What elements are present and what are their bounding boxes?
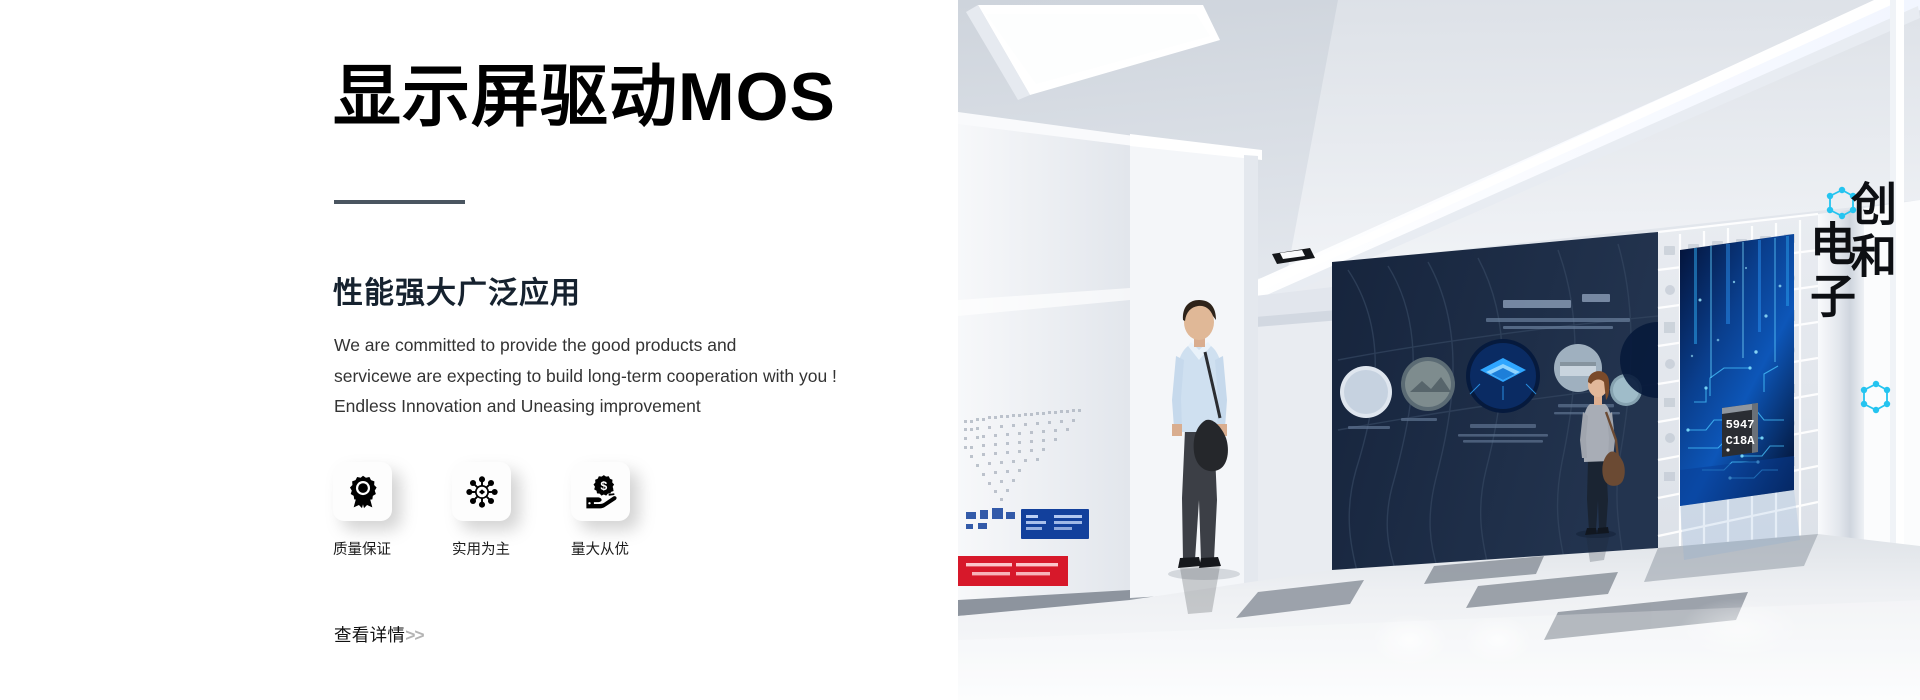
network-hub-icon (464, 474, 500, 510)
wall-plaque-blue (1021, 509, 1089, 539)
product-banner: 显示屏驱动MOS 性能强大广泛应用 We are committed to pr… (0, 0, 1920, 700)
chevron-right-icon: >> (405, 625, 423, 645)
view-details-label: 查看详情 (334, 625, 405, 645)
page-title: 显示屏驱动MOS (333, 62, 836, 133)
feature-label: 实用为主 (452, 538, 510, 559)
description-line-2: servicewe are expecting to build long-te… (334, 361, 837, 392)
banner-subtitle: 性能强大广泛应用 (333, 268, 581, 312)
chip-graphic: 5947 C18A (1722, 403, 1758, 457)
chip-label-line2: C18A (1726, 434, 1756, 448)
feature-tile (452, 462, 511, 521)
feature-list: 质量保证 (333, 462, 690, 521)
feature-item-practical[interactable]: 实用为主 (452, 462, 571, 521)
showroom-photo: 5947 C18A (958, 0, 1920, 700)
feature-item-quality[interactable]: 质量保证 (333, 462, 452, 521)
showroom-illustration: 5947 C18A (958, 0, 1920, 700)
title-divider (334, 200, 465, 204)
banner-description: We are committed to provide the good pro… (334, 330, 837, 422)
feature-label: 质量保证 (333, 538, 391, 559)
description-line-1: We are committed to provide the good pro… (334, 330, 837, 361)
feature-label: 量大从优 (571, 538, 629, 559)
wall-plaque-red (958, 556, 1068, 586)
svg-text:$: $ (600, 478, 607, 492)
award-ribbon-icon (345, 474, 381, 510)
sign-text-left: 电子 (1804, 220, 1856, 324)
description-line-3: Endless Innovation and Uneasing improvem… (334, 391, 837, 422)
led-video-wall: 5947 C18A (1680, 234, 1794, 506)
hand-holding-money-icon: $ (583, 474, 619, 510)
view-details-link[interactable]: 查看详情>> (334, 622, 424, 647)
banner-text-pane: 显示屏驱动MOS 性能强大广泛应用 We are committed to pr… (0, 0, 958, 700)
feature-item-bulk-discount[interactable]: $ 量大从优 (571, 462, 690, 521)
feature-tile: $ (571, 462, 630, 521)
chip-label-line1: 5947 (1726, 418, 1755, 432)
feature-tile (333, 462, 392, 521)
